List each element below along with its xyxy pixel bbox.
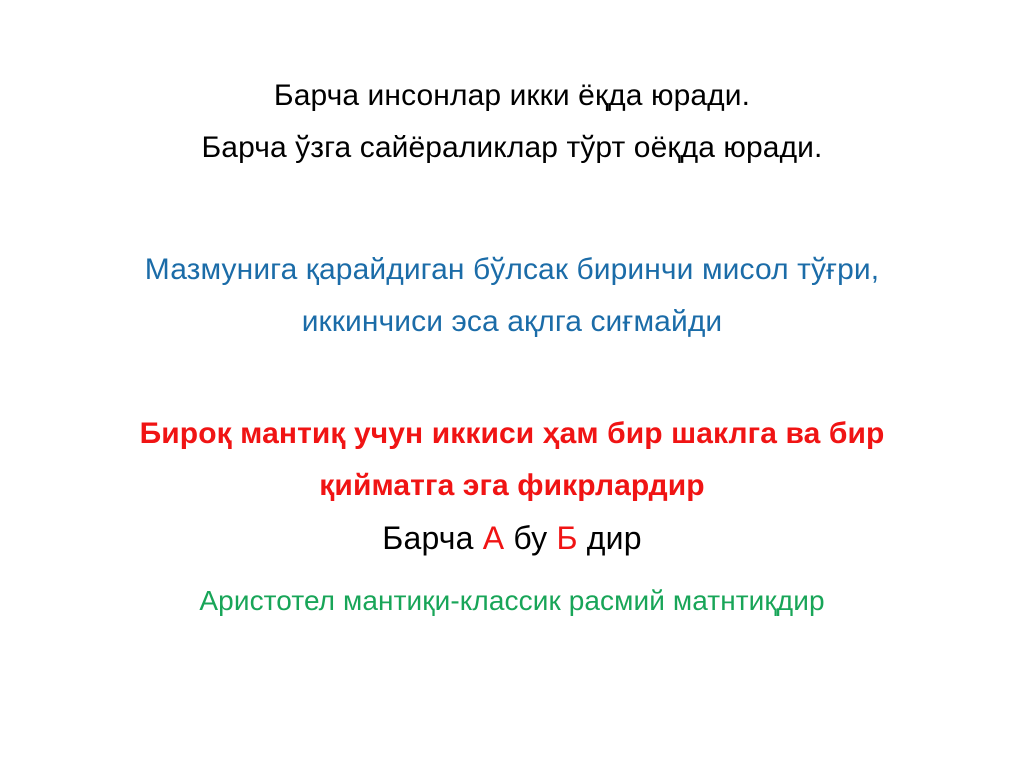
conclusion-line-1: Бироқ мантиқ учун иккиси ҳам бир шаклга … xyxy=(28,408,996,460)
conclusion-text-block: Бироқ мантиқ учун иккиси ҳам бир шаклга … xyxy=(0,408,1024,512)
formula-text-block: Барча А бу Б дир xyxy=(0,514,1024,562)
formula-predicate-variable: Б xyxy=(556,520,577,556)
commentary-line-2: иккинчиси эса ақлга сиғмайди xyxy=(28,296,996,348)
formula-line: Барча А бу Б дир xyxy=(28,514,996,562)
attribution-text-block: Аристотел мантиқи-классик расмий матнтиқ… xyxy=(0,578,1024,624)
conclusion-line-2: қийматга эга фикрлардир xyxy=(28,460,996,512)
commentary-text-block: Мазмунига қарайдиган бўлсак биринчи мисо… xyxy=(0,244,1024,348)
premises-text-block: Барча инсонлар икки ёқда юради. Барча ўз… xyxy=(0,70,1024,174)
formula-subject-variable: А xyxy=(483,520,505,556)
formula-prefix: Барча xyxy=(382,520,482,556)
premise-line-2: Барча ўзга сайёраликлар тўрт оёқда юради… xyxy=(28,122,996,174)
slide-canvas: Барча инсонлар икки ёқда юради. Барча ўз… xyxy=(0,0,1024,767)
commentary-line-1: Мазмунига қарайдиган бўлсак биринчи мисо… xyxy=(28,244,996,296)
formula-middle: бу xyxy=(504,520,556,556)
premise-line-1: Барча инсонлар икки ёқда юради. xyxy=(28,70,996,122)
formula-suffix: дир xyxy=(578,520,642,556)
attribution-line: Аристотел мантиқи-классик расмий матнтиқ… xyxy=(28,578,996,624)
